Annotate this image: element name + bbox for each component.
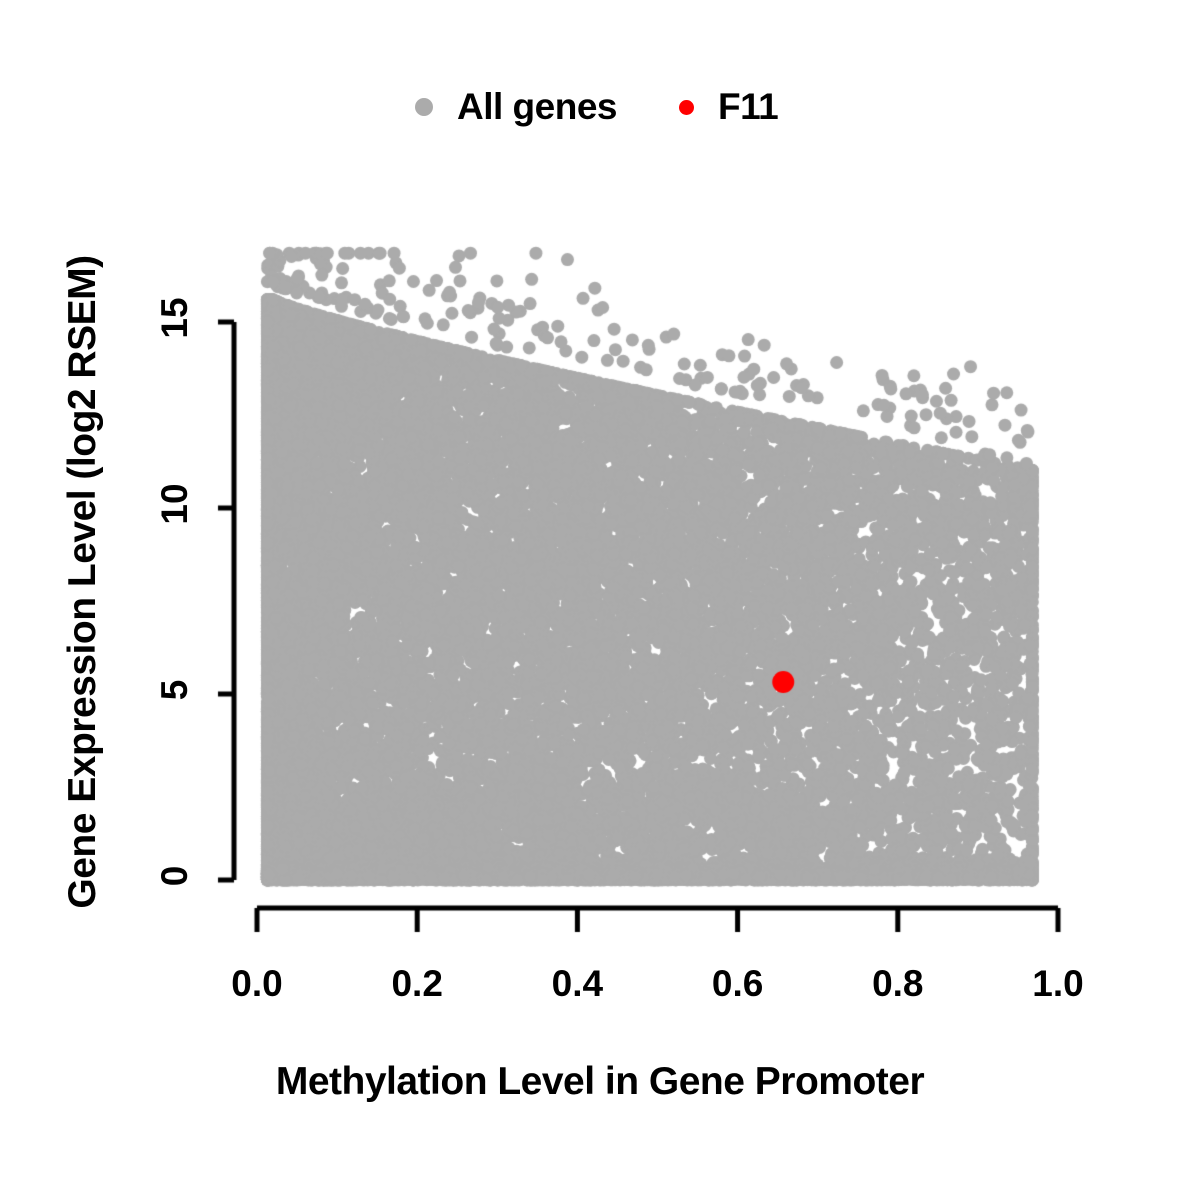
x-axis-title: Methylation Level in Gene Promoter <box>0 1060 1200 1104</box>
legend-entry-all-genes: All genes <box>415 86 617 128</box>
x-tick-label: 0.6 <box>678 963 798 1005</box>
legend-label-f11: F11 <box>718 86 778 128</box>
x-tick-label: 1.0 <box>998 963 1118 1005</box>
y-axis-title: Gene Expression Level (log2 RSEM) <box>61 232 105 932</box>
y-tick-label: 5 <box>154 630 196 750</box>
legend-marker-f11-icon <box>679 100 694 115</box>
legend-label-all-genes: All genes <box>457 86 617 128</box>
plot-legend: All genes F11 <box>415 86 778 128</box>
y-tick-label: 0 <box>154 816 196 936</box>
x-tick-label: 0.2 <box>357 963 477 1005</box>
x-tick-label: 0.8 <box>838 963 958 1005</box>
y-tick-label: 15 <box>154 258 196 378</box>
x-tick-label: 0.4 <box>517 963 637 1005</box>
y-tick-label: 10 <box>154 444 196 564</box>
scatter-plot-canvas <box>0 0 1200 1200</box>
legend-marker-all-genes-icon <box>415 98 433 116</box>
scatter-plot-figure: All genes F11 Gene Expression Level (log… <box>0 0 1200 1200</box>
x-tick-label: 0.0 <box>197 963 317 1005</box>
legend-entry-f11: F11 <box>679 86 778 128</box>
